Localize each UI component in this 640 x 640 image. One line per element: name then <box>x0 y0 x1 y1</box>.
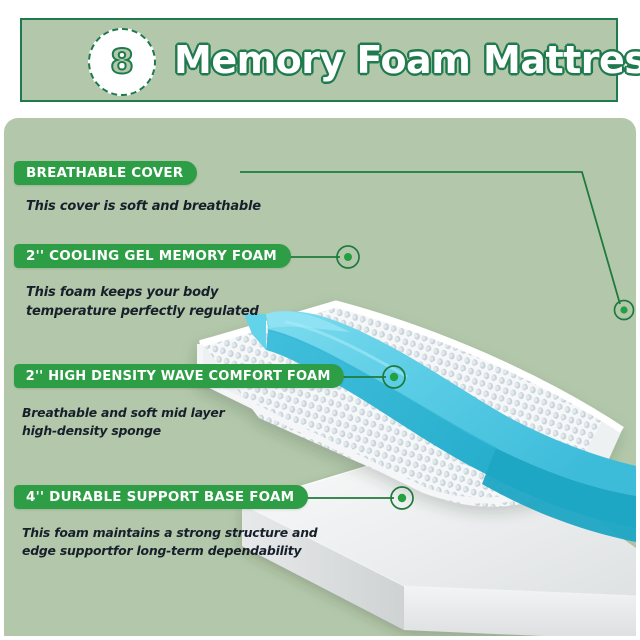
step-number-text: 8 <box>110 45 134 79</box>
cover-marker <box>615 301 634 320</box>
step-number-badge: 8 <box>88 28 156 96</box>
callout-description-wave-comfort-foam: Breathable and soft mid layer high-densi… <box>22 404 354 440</box>
callout-base-foam: 4'' DURABLE SUPPORT BASE FOAM This foam … <box>14 485 317 560</box>
callout-label-breathable-cover[interactable]: BREATHABLE COVER <box>14 161 197 185</box>
callout-cooling-gel: 2'' COOLING GEL MEMORY FOAM This foam ke… <box>14 244 291 322</box>
callout-description-base-foam: This foam maintains a strong structure a… <box>22 524 317 560</box>
callout-label-cooling-gel[interactable]: 2'' COOLING GEL MEMORY FOAM <box>14 244 291 268</box>
main-panel: BREATHABLE COVER This cover is soft and … <box>4 118 636 636</box>
callout-wave-comfort-foam: 2'' HIGH DENSITY WAVE COMFORT FOAM Breat… <box>14 364 354 440</box>
page-title: Memory Foam Mattress <box>174 38 640 82</box>
leader-cover <box>240 172 620 304</box>
infographic-root: 8 Memory Foam Mattress <box>0 0 640 640</box>
callout-description-cooling-gel: This foam keeps your body temperature pe… <box>26 284 291 322</box>
gel-marker <box>337 246 359 268</box>
header-band: 8 Memory Foam Mattress <box>20 18 618 102</box>
callout-breathable-cover: BREATHABLE COVER This cover is soft and … <box>14 161 261 217</box>
callout-label-base-foam[interactable]: 4'' DURABLE SUPPORT BASE FOAM <box>14 485 308 509</box>
callout-description-breathable-cover: This cover is soft and breathable <box>26 198 261 217</box>
callout-label-wave-comfort-foam[interactable]: 2'' HIGH DENSITY WAVE COMFORT FOAM <box>14 364 344 388</box>
